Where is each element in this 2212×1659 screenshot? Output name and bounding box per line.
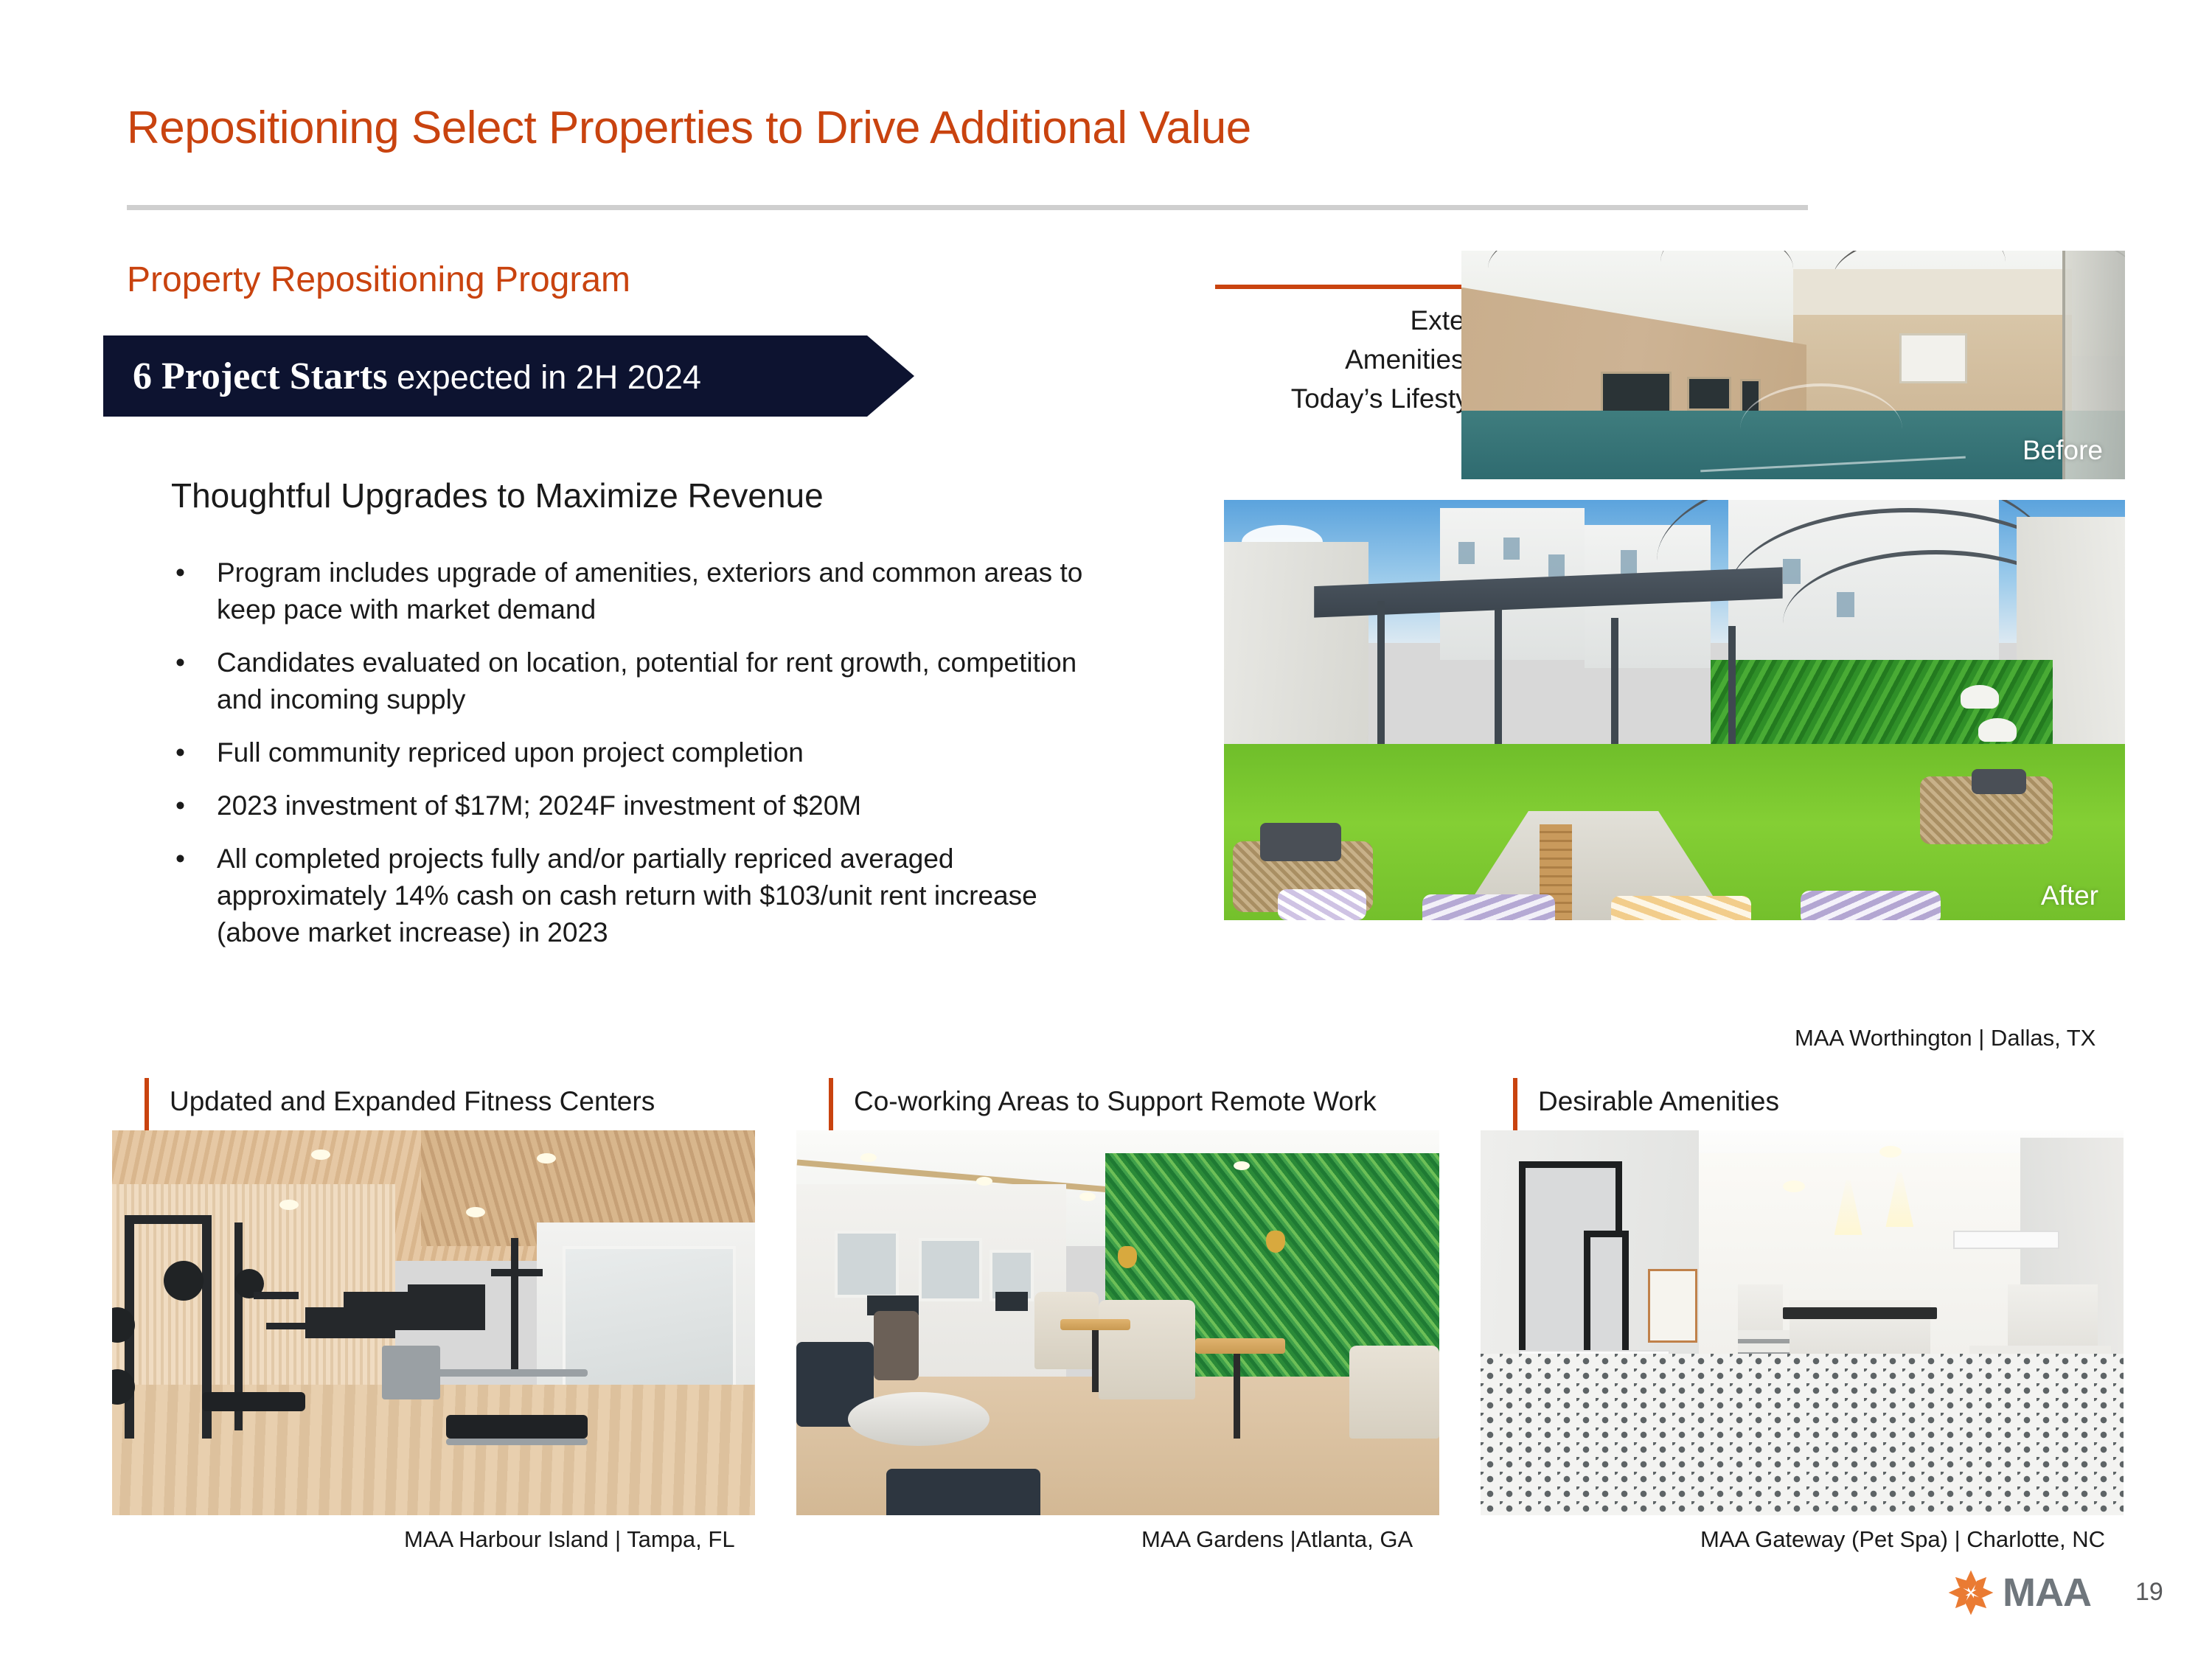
after-photo-cushion [1260, 823, 1341, 861]
exterior-label-line-2: Amenities for [1194, 340, 1504, 379]
label-desirable-amenities: Desirable Amenities [1538, 1086, 1779, 1117]
petspa-photo-wall-shelf [1953, 1231, 2059, 1249]
fitness-photo-dumbbell-rack [254, 1292, 299, 1299]
cowork-photo-sconce [1118, 1246, 1137, 1268]
title-divider [127, 205, 1808, 210]
list-item: • 2023 investment of $17M; 2024F investm… [171, 787, 1122, 824]
project-starts-rest: expected in 2H 2024 [388, 358, 701, 396]
cowork-photo-side-chair [874, 1311, 919, 1380]
maa-logo: MAA [1947, 1567, 2116, 1618]
petspa-photo-counter-top [1783, 1307, 1937, 1319]
after-photo-window [1548, 554, 1565, 577]
exterior-label-line-1: Exterior [1194, 301, 1504, 340]
fitness-photo-squat-rack [125, 1215, 208, 1224]
list-item: • All completed projects fully and/or pa… [171, 841, 1122, 951]
fitness-photo-machine-frame [382, 1346, 439, 1399]
label-updated-fitness-centers: Updated and Expanded Fitness Centers [170, 1086, 655, 1117]
cowork-photo-table [1060, 1319, 1131, 1331]
before-photo-window [1601, 372, 1672, 415]
caption-maa-harbour-island: MAA Harbour Island | Tampa, FL [404, 1526, 735, 1553]
exterior-amenities-label: Exterior Amenities for Today’s Lifestyle… [1194, 301, 1504, 418]
project-starts-emphasis: 6 Project Starts [133, 355, 388, 397]
after-photo-pergola-post [1728, 626, 1736, 760]
panel-heading-thoughtful-upgrades: Thoughtful Upgrades to Maximize Revenue [171, 476, 824, 515]
cowork-photo-sconce [1266, 1231, 1285, 1253]
list-item: • Candidates evaluated on location, pote… [171, 644, 1122, 718]
list-item-text: All completed projects fully and/or part… [217, 844, 1037, 947]
section-label-property-repositioning: Property Repositioning Program [127, 260, 630, 300]
after-photo-window [1621, 550, 1637, 574]
cowork-photo-table [1195, 1338, 1285, 1354]
list-item-text: Program includes upgrade of amenities, e… [217, 557, 1082, 625]
cowork-photo-downlight [1234, 1161, 1250, 1170]
project-starts-banner: 6 Project Starts expected in 2H 2024 [103, 335, 914, 417]
list-item: • Program includes upgrade of amenities,… [171, 554, 1122, 628]
fitness-photo-bench [446, 1415, 588, 1438]
before-photo-sport-court: Before [1461, 251, 2125, 479]
page-title: Repositioning Select Properties to Drive… [127, 102, 1251, 154]
exterior-label-line-3: Today’s Lifestyles [1194, 379, 1504, 418]
cowork-photo-downlight [976, 1177, 992, 1186]
before-badge: Before [2023, 435, 2103, 466]
bullet-dot-icon: • [175, 644, 185, 681]
bullet-dot-icon: • [175, 841, 185, 877]
before-photo-upper-wall [1793, 269, 2072, 319]
page-number: 19 [2135, 1578, 2163, 1607]
coworking-area-photo [796, 1130, 1439, 1515]
after-badge: After [2041, 880, 2098, 911]
petspa-photo-downlight [1879, 1146, 1902, 1158]
list-item-text: Full community repriced upon project com… [217, 737, 804, 768]
after-photo-pillow [1278, 889, 1366, 920]
fitness-photo-downlight [279, 1200, 299, 1210]
after-photo-pillow [1801, 891, 1941, 920]
after-photo-pendant-light [1961, 685, 1999, 709]
bullet-dot-icon: • [175, 734, 185, 771]
cowork-photo-monitor [995, 1292, 1028, 1311]
fitness-photo-bench-frame [446, 1439, 588, 1445]
program-bullet-list: • Program includes upgrade of amenities,… [171, 554, 1122, 967]
after-photo-pillow [1611, 896, 1751, 920]
cowork-photo-table-leg [1092, 1330, 1099, 1392]
fitness-photo-downlight [537, 1153, 556, 1164]
after-photo-courtyard: After [1224, 500, 2125, 920]
maa-flower-icon [1947, 1568, 1995, 1617]
fitness-photo-cardio-machine [408, 1284, 485, 1331]
fitness-photo-bench-frame [434, 1369, 588, 1377]
caption-maa-gardens: MAA Gardens |Atlanta, GA [1141, 1526, 1413, 1553]
fitness-photo-bench [202, 1392, 305, 1411]
before-photo-basketball-hoop [1899, 333, 1967, 383]
bullet-dot-icon: • [175, 787, 185, 824]
after-photo-pendant-light [1978, 718, 2017, 742]
fitness-center-photo [112, 1130, 755, 1515]
label-coworking-areas: Co-working Areas to Support Remote Work [854, 1086, 1377, 1117]
caption-maa-gateway: MAA Gateway (Pet Spa) | Charlotte, NC [1700, 1526, 2105, 1553]
pet-spa-photo [1481, 1130, 2124, 1515]
fitness-photo-weight-plate [164, 1261, 204, 1301]
cowork-photo-downlight [1079, 1192, 1096, 1201]
after-photo-pillow [1422, 894, 1555, 920]
before-photo-window [1687, 377, 1731, 411]
cowork-photo-coffee-table [848, 1392, 990, 1446]
caption-maa-worthington: MAA Worthington | Dallas, TX [1795, 1025, 2096, 1051]
fitness-photo-cable-arm [491, 1269, 543, 1276]
cowork-photo-wall-art [919, 1238, 982, 1301]
list-item-text: 2023 investment of $17M; 2024F investmen… [217, 790, 861, 821]
cowork-photo-booth-seat [1034, 1292, 1099, 1368]
after-photo-window [1458, 542, 1475, 564]
cowork-photo-chair [886, 1469, 1040, 1515]
cowork-photo-booth-seat [1349, 1346, 1439, 1438]
project-starts-banner-text: 6 Project Starts expected in 2H 2024 [103, 355, 701, 398]
after-photo-window [1503, 538, 1520, 560]
petspa-photo-notice-sign [1648, 1269, 1697, 1343]
list-item-text: Candidates evaluated on location, potent… [217, 647, 1077, 714]
cowork-photo-table-leg [1234, 1354, 1240, 1439]
cowork-photo-wall-art [835, 1231, 898, 1298]
fitness-photo-cable-machine [511, 1238, 518, 1368]
cowork-photo-booth-seat [1099, 1300, 1195, 1400]
petspa-photo-downlight [1783, 1180, 1805, 1192]
after-photo-cushion [1972, 769, 2026, 794]
petspa-photo-tile-floor [1481, 1354, 2124, 1515]
bullet-dot-icon: • [175, 554, 185, 591]
list-item: • Full community repriced upon project c… [171, 734, 1122, 771]
maa-wordmark: MAA [2003, 1570, 2091, 1615]
